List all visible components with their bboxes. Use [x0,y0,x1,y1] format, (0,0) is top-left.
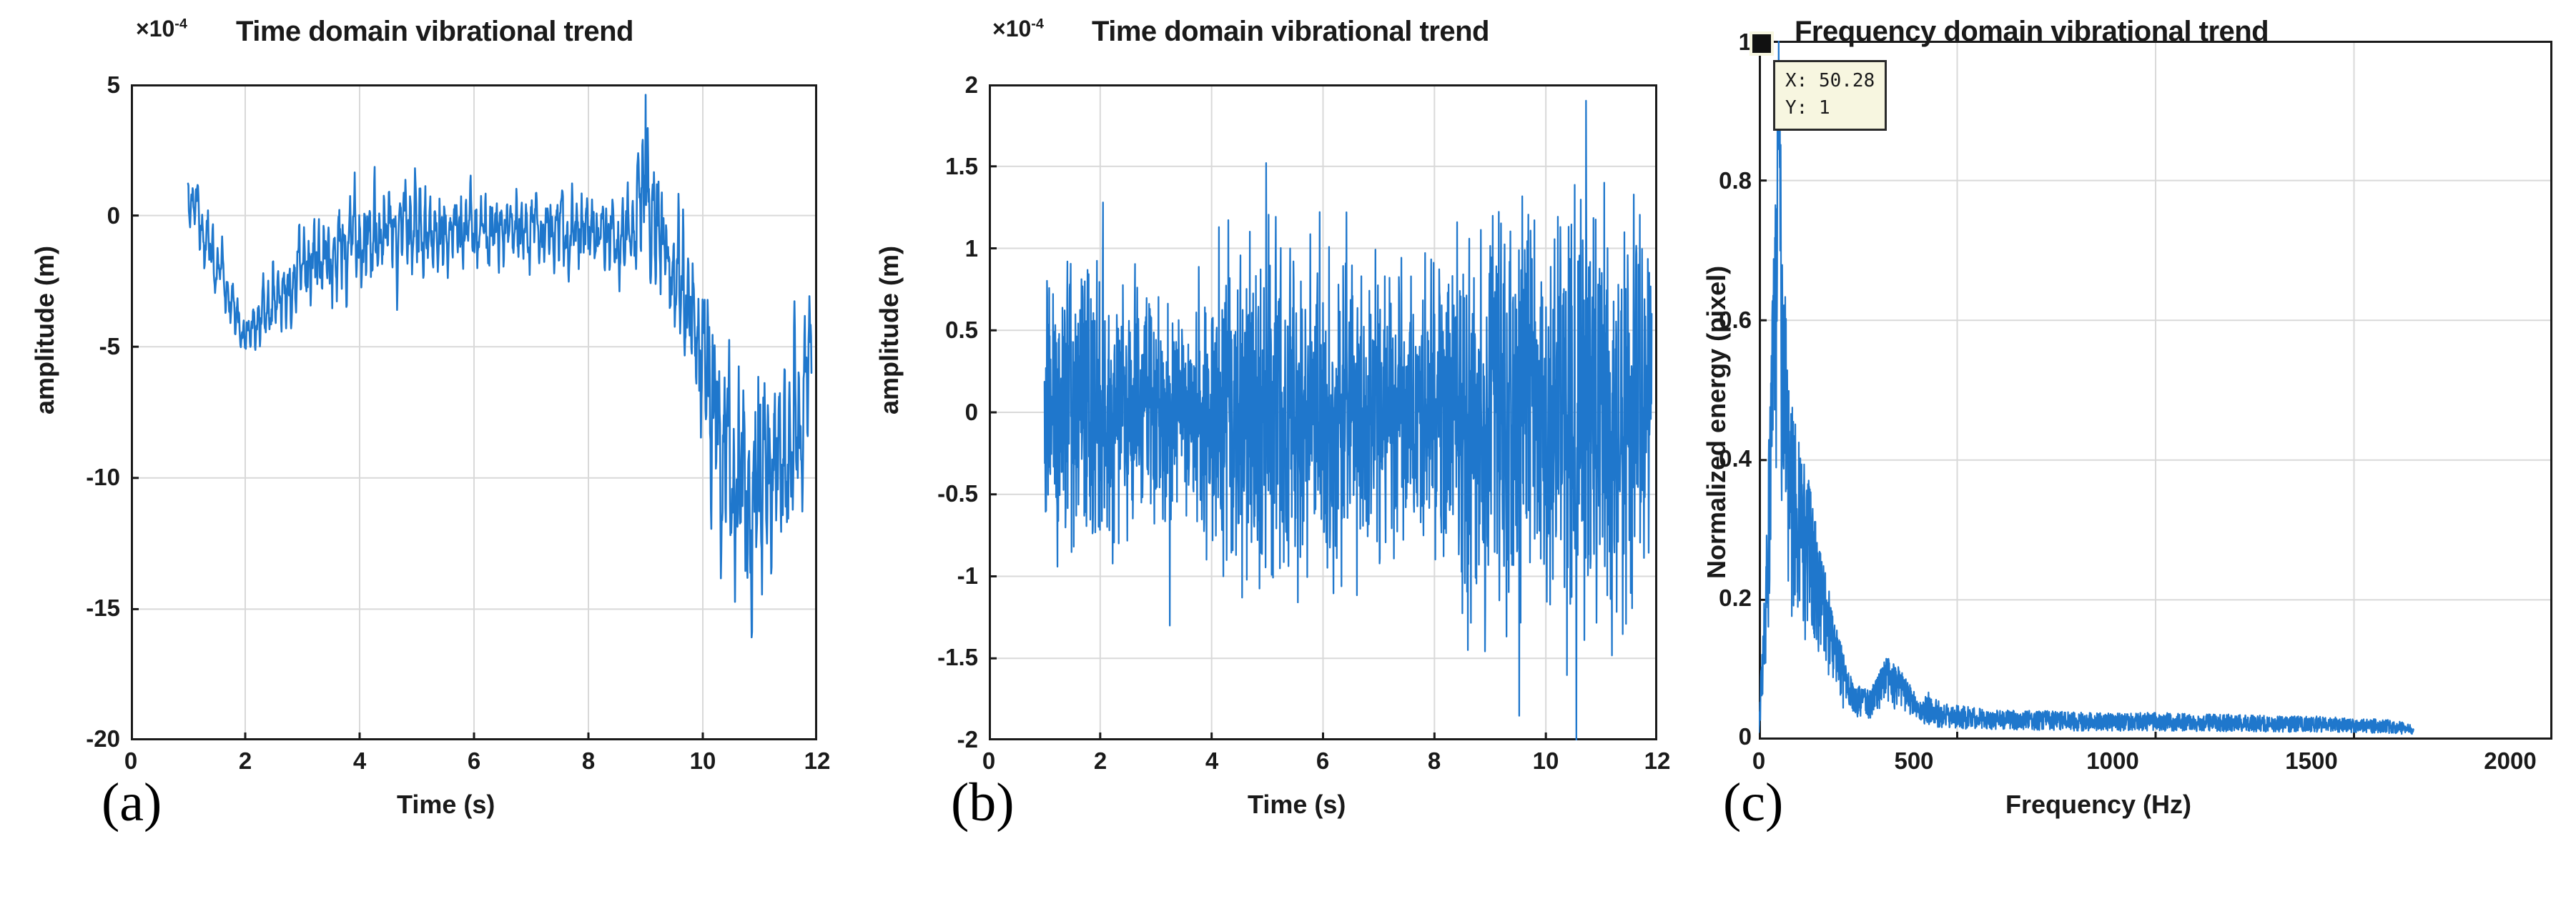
panel-b-ytick-m1p5: -1.5 [882,644,978,671]
panel-b-ytick-m1: -1 [882,562,978,590]
panel-c-plot [1759,41,2552,740]
data-tip[interactable]: X: 50.28 Y: 1 [1773,60,1887,131]
panel-a: ×10-4 Time domain vibrational trend ampl… [0,0,840,914]
spectrum-peak-marker[interactable] [1750,31,1774,56]
panel-b-xtick-12: 12 [1629,747,1686,775]
panel-a-ytick-m10: -10 [41,464,120,491]
panel-a-xtick-12: 12 [789,747,846,775]
data-tip-x: X: 50.28 [1785,68,1875,95]
figure-root: ×10-4 Time domain vibrational trend ampl… [0,0,2576,914]
panel-a-title: Time domain vibrational trend [236,16,633,48]
panel-b-plot [989,84,1657,740]
panel-a-xlabel: Time (s) [397,790,495,820]
panel-b-ytick-2: 2 [882,71,978,99]
panel-a-ytick-0: 0 [41,202,120,229]
panel-a-exponent: ×10-4 [136,16,187,42]
panel-b-ytick-1: 1 [882,235,978,262]
panel-b-xtick-4: 4 [1183,747,1240,775]
panel-b-xtick-6: 6 [1294,747,1351,775]
panel-b-xtick-10: 10 [1517,747,1574,775]
panel-a-xtick-6: 6 [445,747,503,775]
panel-c-ytick-1: 1 [1673,29,1752,56]
panel-b-xtick-8: 8 [1406,747,1463,775]
panel-c-caption: (c) [1723,775,1783,830]
panel-c-ytick-0: 0 [1673,723,1752,750]
panel-a-ytick-m15: -15 [41,595,120,622]
panel-c-xtick-500: 500 [1885,747,1943,775]
panel-b-ytick-0: 0 [882,399,978,426]
panel-c-ytick-0p6: 0.6 [1673,307,1752,334]
panel-a-ytick-5: 5 [41,71,120,99]
panel-b-ytick-1p5: 1.5 [882,153,978,180]
panel-c-xtick-2000: 2000 [2482,747,2539,775]
panel-b-ytick-0p5: 0.5 [882,317,978,344]
panel-b-exponent: ×10-4 [992,16,1044,42]
panel-c-xtick-1500: 1500 [2283,747,2340,775]
panel-a-xtick-4: 4 [331,747,388,775]
panel-c-xtick-1000: 1000 [2084,747,2141,775]
panel-c: Frequency domain vibrational trend Norma… [1680,0,2576,914]
panel-c-xlabel: Frequency (Hz) [2005,790,2191,820]
panel-a-plot [131,84,817,740]
panel-b-caption: (b) [951,775,1015,830]
panel-a-ylabel: amplitude (m) [30,246,60,414]
panel-b-title: Time domain vibrational trend [1092,16,1489,48]
panel-c-ytick-0p4: 0.4 [1673,445,1752,472]
panel-c-xtick-0: 0 [1730,747,1787,775]
panel-b-xlabel: Time (s) [1248,790,1346,820]
panel-b-ytick-m0p5: -0.5 [882,480,978,507]
panel-a-xtick-10: 10 [674,747,731,775]
panel-a-xtick-2: 2 [217,747,274,775]
panel-b: ×10-4 Time domain vibrational trend ampl… [840,0,1680,914]
panel-b-xtick-2: 2 [1072,747,1129,775]
panel-a-xtick-8: 8 [560,747,617,775]
panel-c-ytick-0p2: 0.2 [1673,585,1752,612]
panel-c-ytick-0p8: 0.8 [1673,167,1752,194]
panel-a-xtick-0: 0 [102,747,159,775]
data-tip-y: Y: 1 [1785,95,1875,122]
panel-a-caption: (a) [102,775,162,830]
panel-a-ytick-m5: -5 [41,333,120,360]
panel-b-xtick-0: 0 [960,747,1017,775]
